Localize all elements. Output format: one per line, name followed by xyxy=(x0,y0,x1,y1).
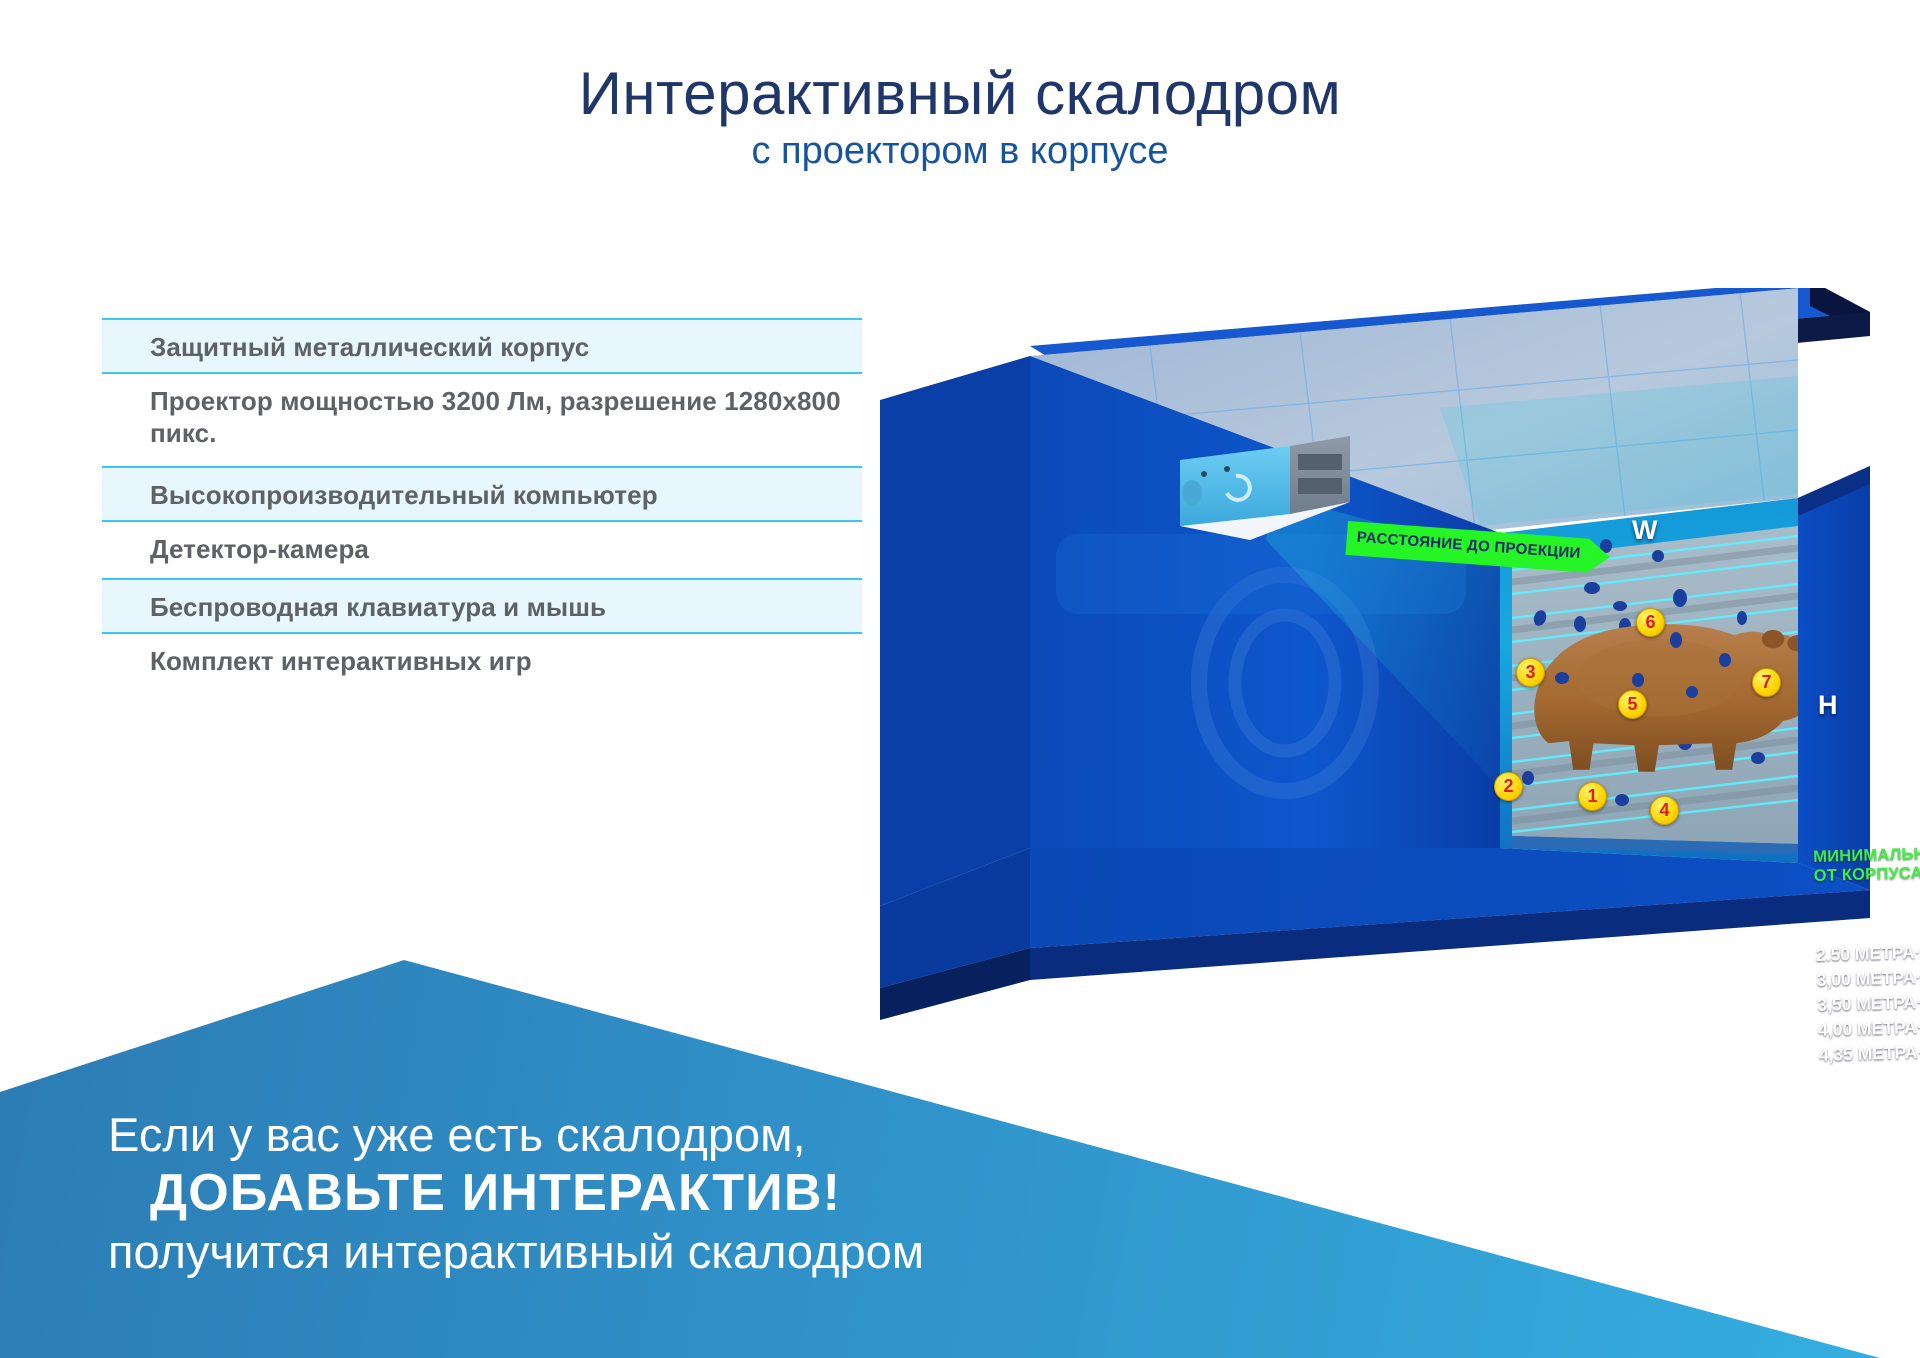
climbing-hold-2[interactable]: 2 xyxy=(1494,772,1523,801)
feature-item-4: Беспроводная клавиатура и мышь xyxy=(102,578,862,634)
climbing-hold-4[interactable]: 4 xyxy=(1650,796,1679,825)
feature-label: Комплект интерактивных игр xyxy=(150,646,532,676)
feature-item-2: Высокопроизводительный компьютер xyxy=(102,466,862,522)
right-wall xyxy=(1798,466,1870,890)
climbing-hold-5[interactable]: 5 xyxy=(1618,690,1647,719)
climbing-hold-3[interactable]: 3 xyxy=(1516,658,1545,687)
page-subtitle: с проектором в корпусе xyxy=(0,131,1920,173)
feature-label: Проектор мощностью 3200 Лм, разрешение 1… xyxy=(150,386,841,448)
promo-line-2: ДОБАВЬТЕ ИНТЕРАКТИВ! xyxy=(150,1162,1308,1224)
feature-item-5: Комплект интерактивных игр xyxy=(102,634,862,690)
promo-line-3: получится интерактивный скалодром xyxy=(108,1224,1308,1279)
feature-item-0: Защитный металлический корпус xyxy=(102,318,862,374)
table-rows: 2.50 МЕТРА..............................… xyxy=(1816,927,1920,1065)
feature-label: Высокопроизводительный компьютер xyxy=(150,480,658,510)
page-title: Интерактивный скалодром xyxy=(0,62,1920,125)
projection-table: МИНИМАЛЬНОЕ РАССТОЯНИЕ ОТ КОРПУСА ДО ПРО… xyxy=(1813,835,1920,1088)
climbing-hold-6[interactable]: 6 xyxy=(1636,608,1665,637)
feature-list: Защитный металлический корпус Проектор м… xyxy=(102,318,862,690)
page-header: Интерактивный скалодром с проектором в к… xyxy=(0,62,1920,173)
table-row: 2.50 МЕТРА..............................… xyxy=(1816,927,1920,965)
row-dots: ........................................… xyxy=(1914,931,1920,958)
feature-label: Беспроводная клавиатура и мышь xyxy=(150,592,606,622)
promo-line-1: Если у вас уже есть скалодром, xyxy=(108,1108,1308,1162)
feature-item-3: Детектор-камера xyxy=(102,522,862,578)
feature-item-1: Проектор мощностью 3200 Лм, разрешение 1… xyxy=(102,374,862,466)
height-dimension-label: H xyxy=(1818,690,1838,721)
row-distance: 4,35 МЕТРА xyxy=(1819,1042,1918,1066)
climbing-hold-1[interactable]: 1 xyxy=(1578,782,1607,811)
feature-label: Детектор-камера xyxy=(150,534,369,564)
climbing-hold-7[interactable]: 7 xyxy=(1752,668,1781,697)
width-dimension-label: W xyxy=(1632,515,1657,546)
table-header-distance: МИНИМАЛЬНОЕ РАССТОЯНИЕ ОТ КОРПУСА ДО ПРО… xyxy=(1813,840,1920,885)
left-wall-outer xyxy=(880,356,1030,906)
room-3d-svg xyxy=(880,288,1870,1028)
feature-label: Защитный металлический корпус xyxy=(150,332,589,362)
promo-banner-text: Если у вас уже есть скалодром, ДОБАВЬТЕ … xyxy=(108,1108,1308,1280)
room-illustration: МИНИМАЛЬНОЕ РАССТОЯНИЕ ОТ КОРПУСА ДО ПРО… xyxy=(880,288,1870,1028)
